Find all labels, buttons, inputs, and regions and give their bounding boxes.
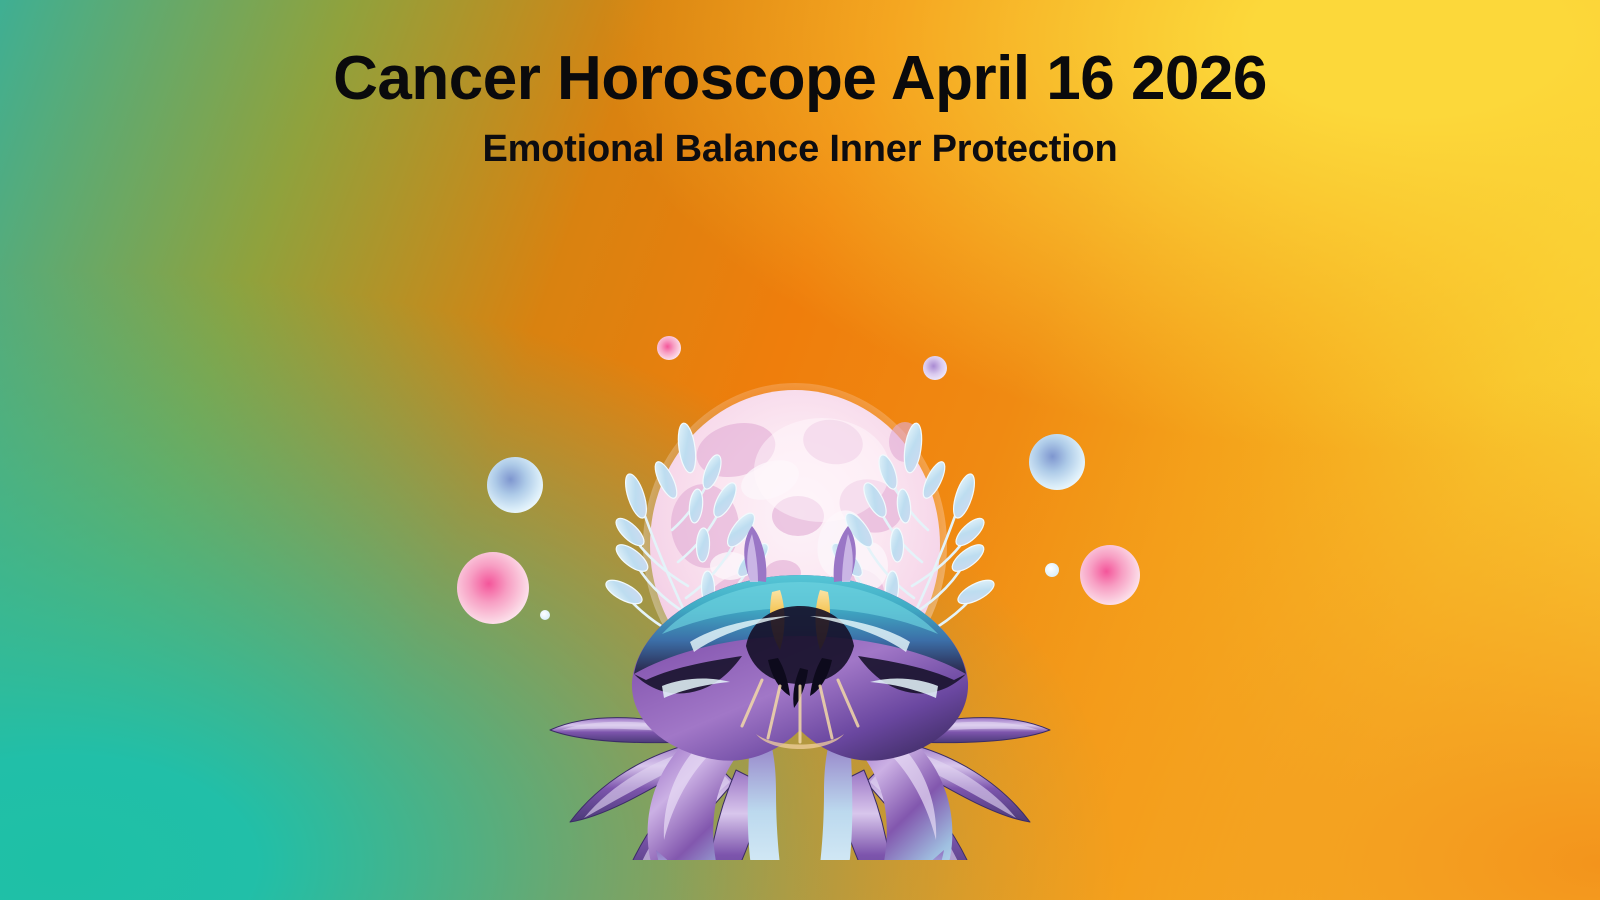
artwork-svg (450, 330, 1150, 860)
bubble-dot-right (1045, 563, 1059, 577)
bubble-violet-top-right (923, 356, 947, 380)
bubble-dot-left (540, 610, 550, 620)
bubble-pink-small-top (657, 336, 681, 360)
title-block: Cancer Horoscope April 16 2026 Emotional… (0, 46, 1600, 171)
bubble-pink-left (457, 552, 529, 624)
bubble-blue-left (487, 457, 543, 513)
page-title: Cancer Horoscope April 16 2026 (0, 46, 1600, 111)
page-subtitle: Emotional Balance Inner Protection (0, 129, 1600, 171)
horoscope-poster: Cancer Horoscope April 16 2026 Emotional… (0, 0, 1600, 900)
bubble-pink-right (1080, 545, 1140, 605)
bubble-blue-right (1029, 434, 1085, 490)
cancer-crab-illustration (450, 330, 1150, 860)
